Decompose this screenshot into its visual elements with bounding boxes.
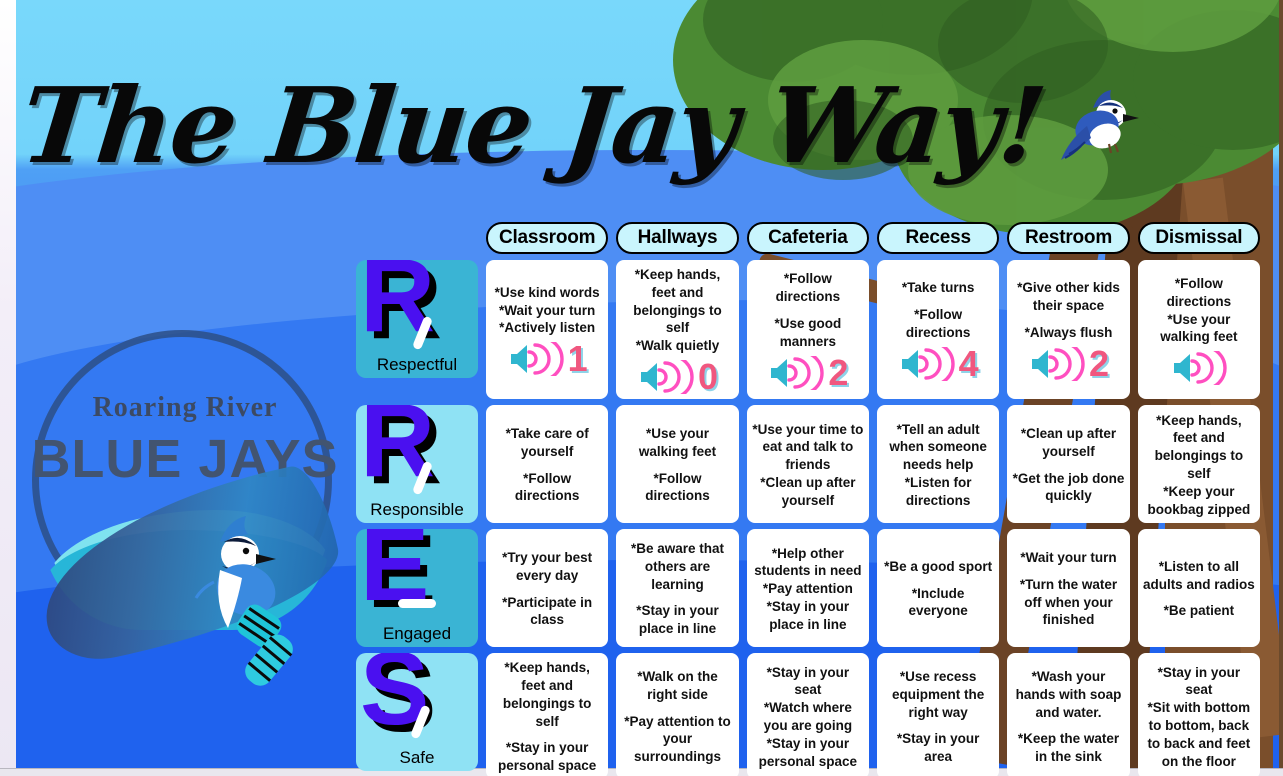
matrix-cell[interactable]: *Follow directions*Use your walking feet <box>1138 260 1260 399</box>
expectation-label: Respectful <box>377 355 457 375</box>
rule-text: *Use recess equipment the right way <box>882 668 994 721</box>
rule-text: *Be a good sport <box>882 558 994 576</box>
rule-text: *Follow directions <box>621 470 733 506</box>
rule-text: *Keep hands, feet and belongings to self <box>621 266 733 337</box>
matrix-cell[interactable]: *Give other kids their space*Always flus… <box>1007 260 1129 399</box>
volume-speaker-icon <box>767 356 825 390</box>
rule-text: *Walk on the right side <box>621 668 733 704</box>
matrix-cell[interactable]: *Tell an adult when someone needs help*L… <box>877 405 999 523</box>
matrix-cell[interactable]: *Clean up after yourself*Get the job don… <box>1007 405 1129 523</box>
rule-text: *Include everyone <box>882 585 994 621</box>
volume-speaker-icon <box>637 360 695 394</box>
poster-canvas: The Blue Jay Way! Roaring River BLUE JAY… <box>0 0 1283 776</box>
volume-level-number: 0 <box>698 359 718 395</box>
matrix-cell[interactable]: *Use your time to eat and talk to friend… <box>747 405 869 523</box>
column-header-dismissal[interactable]: Dismissal <box>1138 222 1260 254</box>
page-title: The Blue Jay Way! <box>17 74 1049 178</box>
volume-speaker-icon <box>1170 351 1228 385</box>
rule-text: *Watch where you are going <box>752 699 864 735</box>
rule-text: *Stay in your seat <box>1143 664 1255 700</box>
rule-text: *Keep hands, feet and belongings to self <box>491 659 603 730</box>
logo-top-text: Roaring River <box>20 392 350 424</box>
column-header-hallways[interactable]: Hallways <box>616 222 738 254</box>
matrix-cell[interactable]: *Use recess equipment the right way*Stay… <box>877 653 999 776</box>
rule-text: *Participate in class <box>491 594 603 630</box>
rule-text: *Get the job done quickly <box>1012 470 1124 506</box>
expectation-tile-safe: SSafe <box>356 653 478 771</box>
rule-text: *Help other students in need <box>752 545 864 581</box>
rule-text: *Follow directions <box>491 470 603 506</box>
expectations-matrix: ClassroomHallwaysCafeteriaRecessRestroom… <box>356 222 1260 776</box>
rule-text: *Give other kids their space <box>1012 279 1124 315</box>
expectation-tile-engaged: EEngaged <box>356 529 478 647</box>
expectation-tile-responsible: RResponsible <box>356 405 478 523</box>
matrix-cell[interactable]: *Stay in your seat*Watch where you are g… <box>747 653 869 776</box>
rule-text: *Stay in your place in line <box>621 602 733 638</box>
rule-text: *Listen for directions <box>882 474 994 510</box>
rule-text: *Stay in your area <box>882 730 994 766</box>
rule-text: *Use your walking feet <box>621 425 733 461</box>
left-margin-rail <box>0 0 16 776</box>
matrix-corner-spacer <box>356 222 478 254</box>
column-header-recess[interactable]: Recess <box>877 222 999 254</box>
rule-text: *Stay in your personal space <box>491 739 603 775</box>
rule-text: *Use kind words <box>491 284 603 302</box>
volume-speaker-icon <box>898 347 956 381</box>
rule-text: *Clean up after yourself <box>1012 425 1124 461</box>
volume-level-number: 2 <box>1089 346 1109 382</box>
rule-text: *Use good manners <box>752 315 864 351</box>
matrix-cell[interactable]: *Try your best every day*Participate in … <box>486 529 608 647</box>
rule-text: *Follow directions <box>1143 275 1255 311</box>
rule-text: *Wait your turn <box>1012 549 1124 567</box>
matrix-cell[interactable]: *Use your walking feet*Follow directions <box>616 405 738 523</box>
volume-speaker-icon <box>507 342 565 376</box>
rule-text: *Follow directions <box>752 270 864 306</box>
volume-level-indicator: 4 <box>898 346 979 382</box>
matrix-cell[interactable]: *Keep hands, feet and belongings to self… <box>616 260 738 399</box>
volume-level-indicator: 2 <box>1028 346 1109 382</box>
volume-level-indicator: 0 <box>637 359 718 395</box>
rule-text: *Walk quietly <box>621 337 733 355</box>
volume-speaker-icon <box>1028 347 1086 381</box>
matrix-cell[interactable]: *Stay in your seat*Sit with bottom to bo… <box>1138 653 1260 776</box>
rule-text: *Actively listen <box>491 319 603 337</box>
matrix-cell[interactable]: *Take care of yourself*Follow directions <box>486 405 608 523</box>
matrix-cell[interactable]: *Walk on the right side*Pay attention to… <box>616 653 738 776</box>
expectation-label: Responsible <box>370 500 464 520</box>
rule-text: *Always flush <box>1012 324 1124 342</box>
rule-text: *Follow directions <box>882 306 994 342</box>
rule-text: *Pay attention to your surroundings <box>621 713 733 766</box>
column-header-classroom[interactable]: Classroom <box>486 222 608 254</box>
rule-text: *Turn the water off when your finished <box>1012 576 1124 629</box>
school-logo: Roaring River BLUE JAYS <box>20 330 340 700</box>
volume-level-number: 1 <box>568 341 588 377</box>
matrix-cell[interactable]: *Wash your hands with soap and water.*Ke… <box>1007 653 1129 776</box>
blue-jay-logo-icon <box>148 512 308 697</box>
rule-text: *Pay attention <box>752 580 864 598</box>
matrix-cell[interactable]: *Keep hands, feet and belongings to self… <box>1138 405 1260 523</box>
rule-text: *Take care of yourself <box>491 425 603 461</box>
rule-text: *Take turns <box>882 279 994 297</box>
expectation-tile-respectful: RRespectful <box>356 260 478 378</box>
matrix-cell[interactable]: *Wait your turn*Turn the water off when … <box>1007 529 1129 647</box>
volume-level-indicator: 1 <box>507 341 588 377</box>
blue-jay-bird-icon <box>1053 70 1163 180</box>
volume-level-number: 2 <box>828 355 848 391</box>
matrix-cell[interactable]: *Use kind words*Wait your turn*Actively … <box>486 260 608 399</box>
matrix-cell[interactable]: *Take turns*Follow directions4 <box>877 260 999 399</box>
volume-level-indicator: 2 <box>767 355 848 391</box>
rule-text: *Stay in your place in line <box>752 598 864 634</box>
matrix-cell[interactable]: *Be a good sport*Include everyone <box>877 529 999 647</box>
rule-text: *Wait your turn <box>491 302 603 320</box>
rule-text: *Keep the water in the sink <box>1012 730 1124 766</box>
rule-text: *Use your time to eat and talk to friend… <box>752 421 864 474</box>
rule-text: *Use your walking feet <box>1143 311 1255 347</box>
matrix-cell[interactable]: *Listen to all adults and radios*Be pati… <box>1138 529 1260 647</box>
matrix-cell[interactable]: *Keep hands, feet and belongings to self… <box>486 653 608 776</box>
rule-text: *Keep hands, feet and belongings to self <box>1143 412 1255 483</box>
rule-text: *Listen to all adults and radios <box>1143 558 1255 594</box>
rule-text: *Be patient <box>1143 602 1255 620</box>
matrix-cell[interactable]: *Be aware that others are learning*Stay … <box>616 529 738 647</box>
rule-text: *Keep your bookbag zipped <box>1143 483 1255 519</box>
expectation-label: Engaged <box>383 624 451 644</box>
matrix-cell[interactable]: *Help other students in need*Pay attenti… <box>747 529 869 647</box>
rule-text: *Tell an adult when someone needs help <box>882 421 994 474</box>
rule-text: *Stay in your personal space <box>752 735 864 771</box>
letter-shine-highlight <box>398 599 436 608</box>
rule-text: *Sit with bottom to bottom, back to back… <box>1143 699 1255 770</box>
rule-text: *Try your best every day <box>491 549 603 585</box>
column-header-restroom[interactable]: Restroom <box>1007 222 1129 254</box>
rule-text: *Wash your hands with soap and water. <box>1012 668 1124 721</box>
column-header-cafeteria[interactable]: Cafeteria <box>747 222 869 254</box>
volume-level-number: 4 <box>959 346 979 382</box>
rule-text: *Clean up after yourself <box>752 474 864 510</box>
expectation-label: Safe <box>400 748 435 768</box>
right-edge-strip <box>1279 0 1283 776</box>
volume-level-indicator <box>1170 350 1228 386</box>
rule-text: *Stay in your seat <box>752 664 864 700</box>
matrix-cell[interactable]: *Follow directions*Use good manners2 <box>747 260 869 399</box>
rule-text: *Be aware that others are learning <box>621 540 733 593</box>
